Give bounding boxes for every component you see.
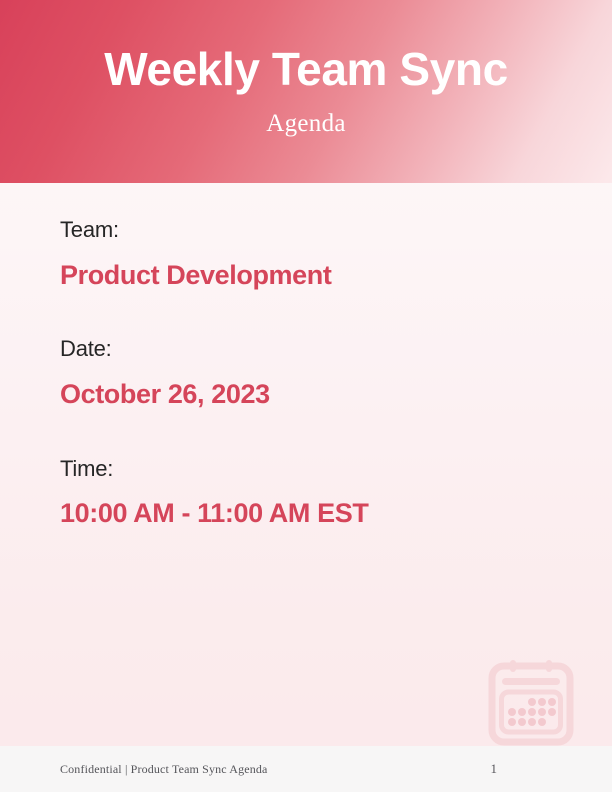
- page-subtitle: Agenda: [266, 110, 346, 138]
- page-title: Weekly Team Sync: [104, 45, 508, 93]
- field-team: Team: Product Development: [60, 216, 552, 292]
- field-label-time: Time:: [60, 455, 552, 483]
- field-value-date: October 26, 2023: [60, 378, 552, 412]
- footer-confidential-text: Confidential | Product Team Sync Agenda: [60, 762, 268, 777]
- document-body: Team: Product Development Date: October …: [0, 183, 612, 531]
- document-header-banner: Weekly Team Sync Agenda: [0, 0, 612, 183]
- field-date: Date: October 26, 2023: [60, 335, 552, 411]
- field-time: Time: 10:00 AM - 11:00 AM EST: [60, 455, 552, 531]
- field-label-date: Date:: [60, 335, 552, 363]
- field-value-team: Product Development: [60, 259, 552, 293]
- calendar-icon: [486, 656, 576, 746]
- document-page: Weekly Team Sync Agenda Team: Product De…: [0, 0, 612, 792]
- field-label-team: Team:: [60, 216, 552, 244]
- footer-page-number: 1: [491, 761, 498, 777]
- field-value-time: 10:00 AM - 11:00 AM EST: [60, 497, 552, 531]
- document-footer: Confidential | Product Team Sync Agenda …: [0, 746, 612, 792]
